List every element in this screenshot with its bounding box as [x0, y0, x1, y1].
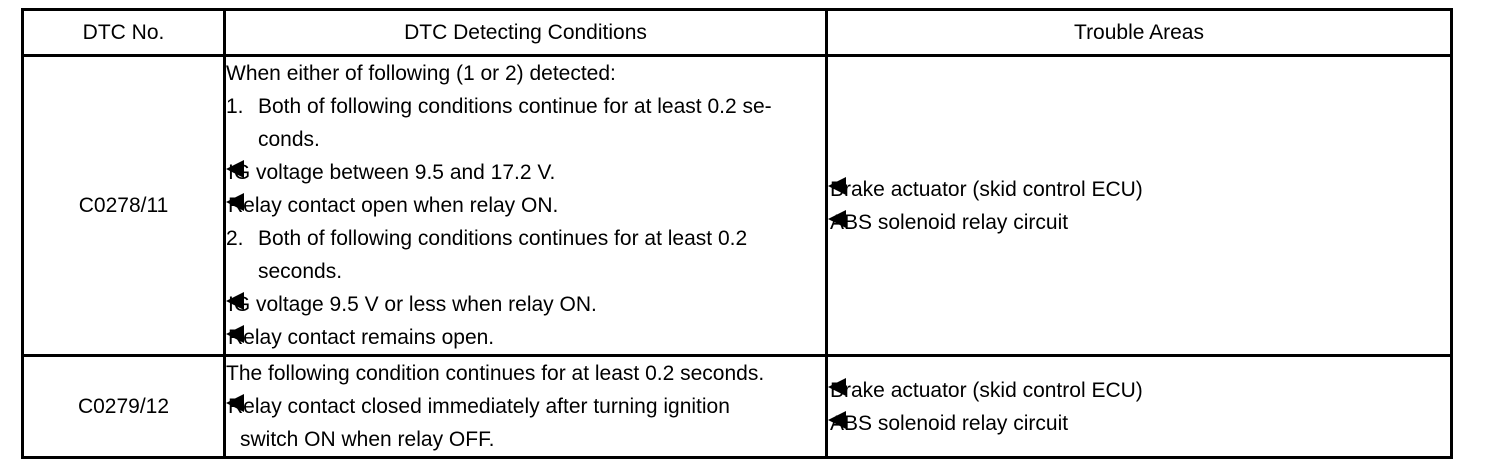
trouble-area-bullet-item: Brake actuator (skid control ECU): [828, 173, 1450, 206]
condition-text: IG voltage between 9.5 and 17.2 V.: [228, 156, 555, 189]
condition-line: When either of following (1 or 2) detect…: [226, 57, 825, 90]
condition-item-number: 2.: [226, 222, 254, 255]
trouble-area-bullet-item: ABS solenoid relay circuit: [828, 206, 1450, 239]
cell-dtc-no: C0279/12: [23, 356, 225, 458]
column-header-trouble-areas: Trouble Areas: [827, 10, 1452, 56]
trouble-area-text: ABS solenoid relay circuit: [830, 407, 1068, 440]
trouble-area-text: Brake actuator (skid control ECU): [830, 374, 1143, 407]
condition-text: Relay contact remains open.: [228, 321, 494, 354]
condition-line: The following condition continues for at…: [226, 357, 825, 390]
condition-text: seconds.: [258, 260, 342, 283]
table-header: DTC No. DTC Detecting Conditions Trouble…: [23, 10, 1452, 56]
dtc-table-page: DTC No. DTC Detecting Conditions Trouble…: [0, 0, 1504, 464]
condition-text: Relay contact open when relay ON.: [228, 189, 558, 222]
condition-item-number: 1.: [226, 90, 254, 123]
condition-bullet-item: IG voltage 9.5 V or less when relay ON.: [226, 288, 825, 321]
column-header-dtc-no: DTC No.: [23, 10, 225, 56]
trouble-area-bullet-item: Brake actuator (skid control ECU): [828, 374, 1450, 407]
condition-text: When either of following (1 or 2) detect…: [226, 62, 616, 85]
table-body: C0278/11 When either of following (1 or …: [23, 56, 1452, 458]
cell-dtc-detecting-conditions: The following condition continues for at…: [225, 356, 827, 458]
condition-numbered-item: 2. Both of following conditions continue…: [226, 222, 825, 255]
trouble-areas-list: Brake actuator (skid control ECU) ABS so…: [828, 374, 1450, 440]
condition-text: IG voltage 9.5 V or less when relay ON.: [228, 288, 597, 321]
conditions-list: When either of following (1 or 2) detect…: [226, 57, 825, 354]
table-header-row: DTC No. DTC Detecting Conditions Trouble…: [23, 10, 1452, 56]
cell-trouble-areas: Brake actuator (skid control ECU) ABS so…: [827, 356, 1452, 458]
column-header-dtc-detecting-conditions: DTC Detecting Conditions: [225, 10, 827, 56]
trouble-area-bullet-item: ABS solenoid relay circuit: [828, 407, 1450, 440]
condition-bullet-item: Relay contact open when relay ON.: [226, 189, 825, 222]
condition-text: Both of following conditions continues f…: [258, 227, 747, 250]
table-row: C0278/11 When either of following (1 or …: [23, 56, 1452, 356]
condition-line-continuation: conds.: [226, 123, 825, 156]
trouble-area-text: ABS solenoid relay circuit: [830, 206, 1068, 239]
condition-text: conds.: [258, 128, 320, 151]
condition-line-continuation: switch ON when relay OFF.: [226, 423, 825, 456]
condition-text: Both of following conditions continue fo…: [258, 95, 772, 118]
conditions-list: The following condition continues for at…: [226, 357, 825, 456]
table-row: C0279/12 The following condition continu…: [23, 356, 1452, 458]
condition-text: switch ON when relay OFF.: [240, 428, 494, 451]
condition-bullet-item: Relay contact remains open.: [226, 321, 825, 354]
trouble-area-text: Brake actuator (skid control ECU): [830, 173, 1143, 206]
trouble-areas-list: Brake actuator (skid control ECU) ABS so…: [828, 173, 1450, 239]
cell-dtc-no: C0278/11: [23, 56, 225, 356]
condition-line-continuation: seconds.: [226, 255, 825, 288]
condition-bullet-item: IG voltage between 9.5 and 17.2 V.: [226, 156, 825, 189]
cell-dtc-detecting-conditions: When either of following (1 or 2) detect…: [225, 56, 827, 356]
condition-text: Relay contact closed immediately after t…: [228, 390, 730, 423]
cell-trouble-areas: Brake actuator (skid control ECU) ABS so…: [827, 56, 1452, 356]
dtc-diagnostic-table: DTC No. DTC Detecting Conditions Trouble…: [21, 8, 1453, 459]
condition-numbered-item: 1. Both of following conditions continue…: [226, 90, 825, 123]
condition-text: The following condition continues for at…: [226, 362, 764, 385]
condition-bullet-item: Relay contact closed immediately after t…: [226, 390, 825, 423]
